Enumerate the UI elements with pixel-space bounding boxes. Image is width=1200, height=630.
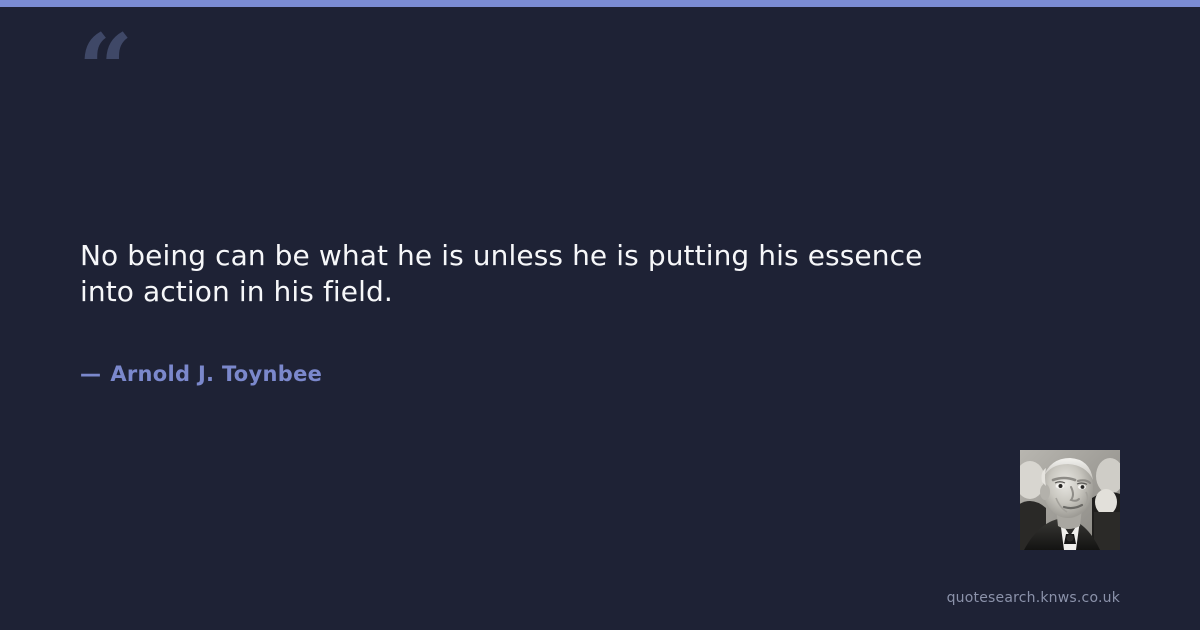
quote-card: “ No being can be what he is unless he i…	[0, 0, 1200, 630]
attribution-author: Arnold J. Toynbee	[110, 362, 322, 386]
portrait-image	[1020, 450, 1120, 550]
author-portrait	[1020, 450, 1120, 550]
quote-text: No being can be what he is unless he is …	[80, 238, 940, 310]
site-watermark: quotesearch.knws.co.uk	[947, 590, 1120, 606]
top-accent-bar	[0, 0, 1200, 7]
quotation-mark-icon: “	[78, 22, 134, 118]
quote-attribution: —Arnold J. Toynbee	[80, 310, 940, 386]
attribution-dash: —	[80, 362, 110, 386]
quote-content: No being can be what he is unless he is …	[80, 238, 940, 386]
